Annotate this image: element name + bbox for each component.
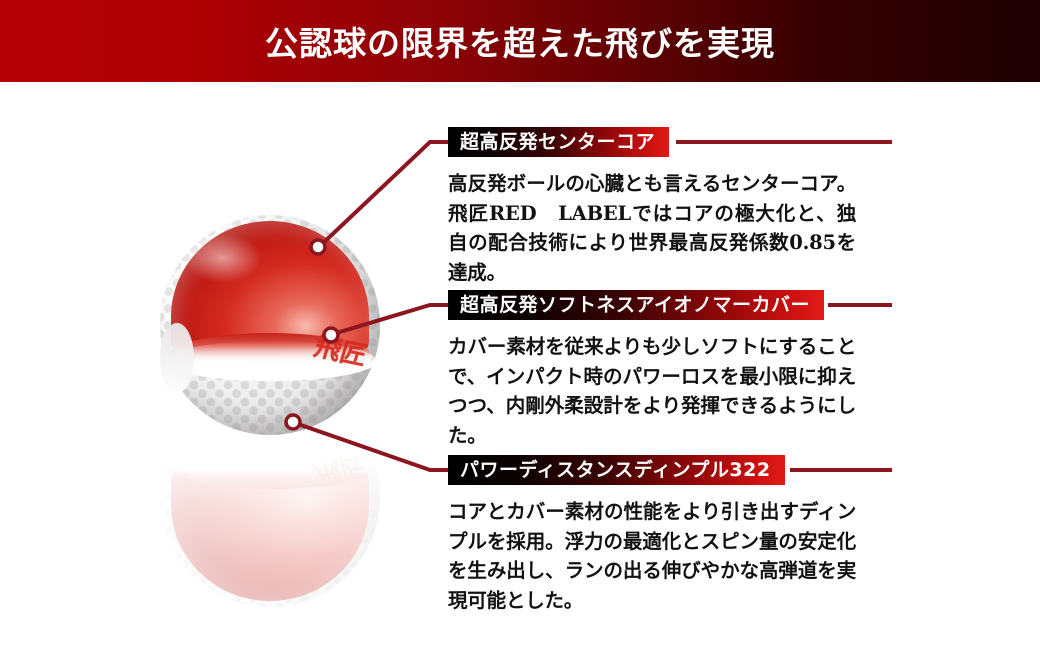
callout-badge-dimple-322: パワーディスタンスディンプル322 <box>448 455 785 485</box>
callout-center-core: 超高反発センターコア 高反発ボールの心臓とも言えるセンターコア。飛匠RED LA… <box>448 127 856 287</box>
callout-body-ionomer-cover: カバー素材を従来よりも少しソフトにすることで、インパクト時のパワーロスを最小限に… <box>448 332 856 450</box>
callout-badge-center-core: 超高反発センターコア <box>448 127 669 157</box>
callout-dimple-322: パワーディスタンスディンプル322 コアとカバー素材の性能をより引き出すディンプ… <box>448 455 856 615</box>
callout-badge-ionomer-cover: 超高反発ソフトネスアイオノマーカバー <box>448 290 824 320</box>
infographic-page: 公認球の限界を超えた飛びを実現 飛匠 飛匠 <box>0 0 1040 646</box>
callout-body-center-core: 高反発ボールの心臓とも言えるセンターコア。飛匠RED LABELではコアの極大化… <box>448 169 856 287</box>
callout-body-dimple-322: コアとカバー素材の性能をより引き出すディンプルを採用。浮力の最適化とスピン量の安… <box>448 497 856 615</box>
callouts-group: 超高反発センターコア 高反発ボールの心臓とも言えるセンターコア。飛匠RED LA… <box>0 0 1040 646</box>
callout-ionomer-cover: 超高反発ソフトネスアイオノマーカバー カバー素材を従来よりも少しソフトにすること… <box>448 290 856 450</box>
